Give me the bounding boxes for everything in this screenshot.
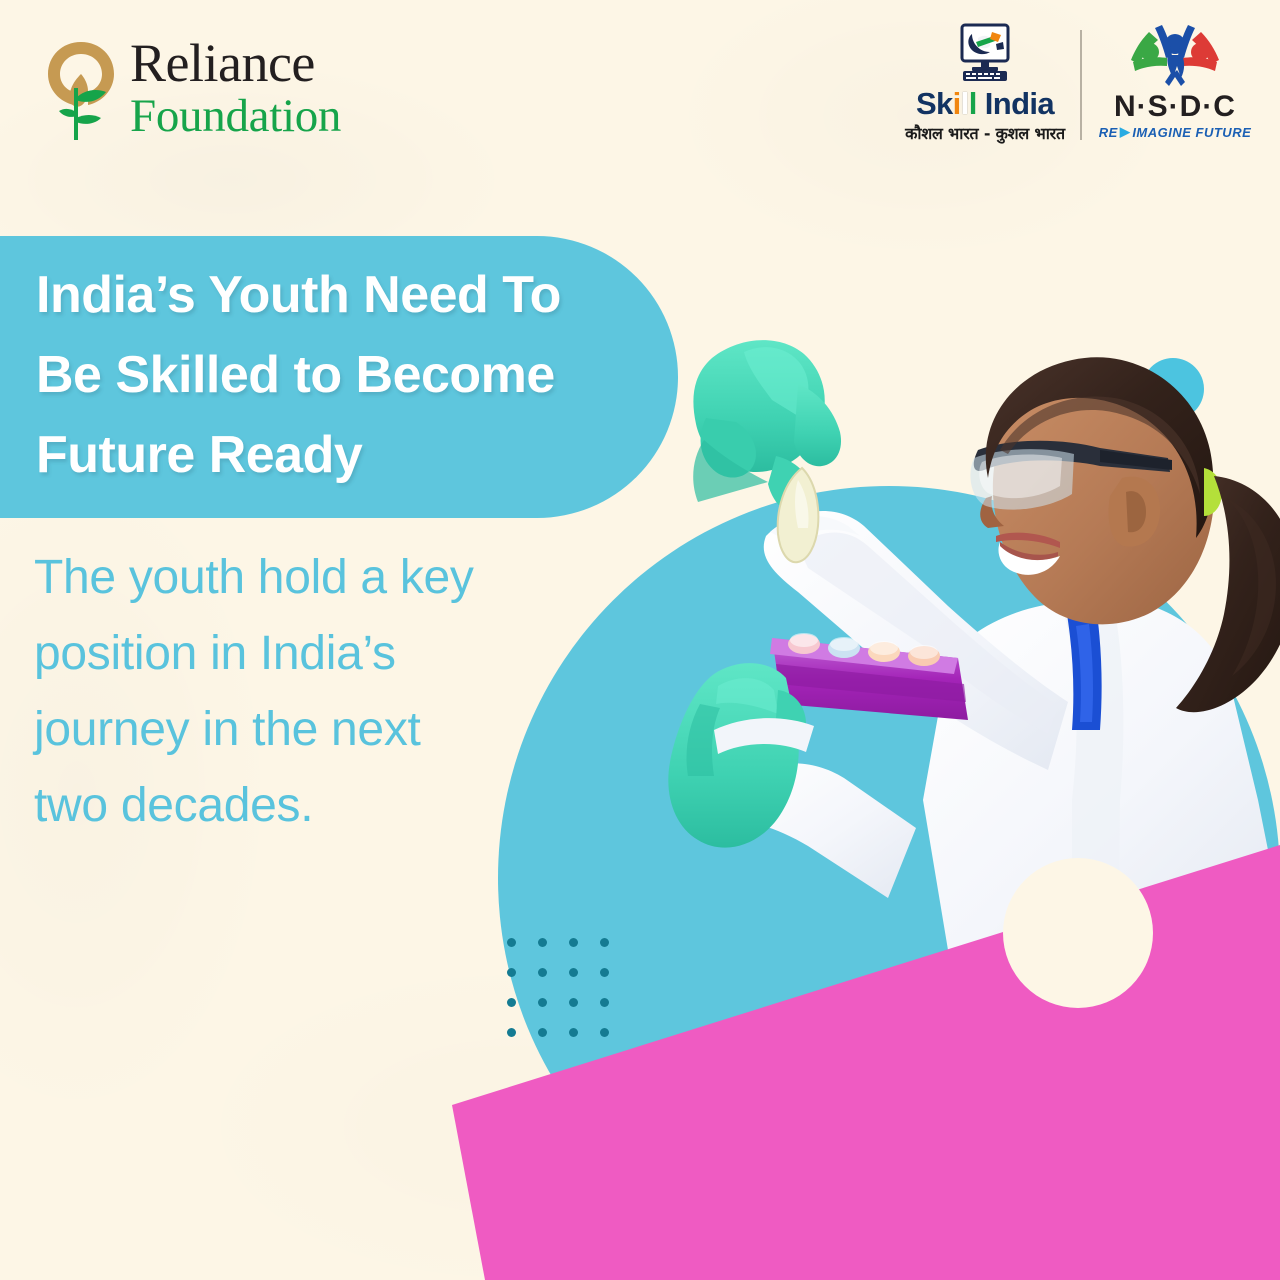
- dot-grid-pattern: [507, 938, 607, 1038]
- nsdc-logo: N·S·D·C RE ▶ IMAGINE FUTURE: [1100, 22, 1250, 140]
- subtitle-line-1: The youth hold a key: [34, 540, 614, 616]
- reliance-foundation-logo: Reliance Foundation: [44, 34, 354, 149]
- monitor-hand-tools-icon: [954, 22, 1016, 84]
- cream-circle-accent: [1003, 858, 1153, 1008]
- logo-divider: [1080, 30, 1082, 140]
- subtitle-line-4: two decades.: [34, 768, 614, 844]
- subtitle-text: The youth hold a key position in India’s…: [34, 540, 614, 844]
- scientist-photo: [648, 330, 1280, 950]
- headline-line-3: Future Ready: [36, 415, 696, 495]
- skill-india-logo: Skill India कौशल भारत - कुशल भारत: [900, 22, 1070, 144]
- skill-india-hindi-tagline: कौशल भारत - कुशल भारत: [905, 122, 1065, 144]
- foundation-word: Foundation: [130, 90, 341, 142]
- headline-line-2: Be Skilled to Become: [36, 335, 696, 415]
- poster-canvas: India’s Youth Need To Be Skilled to Beco…: [0, 0, 1280, 1280]
- skill-india-i-saffron: i: [953, 86, 961, 121]
- reliance-foundation-wordmark: Reliance Foundation: [130, 34, 341, 142]
- nsdc-tagline-re: RE: [1099, 125, 1118, 140]
- three-people-raised-arms-icon: [1119, 22, 1231, 90]
- headline-text: India’s Youth Need To Be Skilled to Beco…: [36, 255, 696, 495]
- nsdc-tagline: RE ▶ IMAGINE FUTURE: [1099, 124, 1252, 140]
- reliance-word: Reliance: [130, 34, 341, 92]
- reliance-flame-leaf-icon: [44, 40, 118, 142]
- skill-india-india: India: [977, 86, 1054, 121]
- skill-india-sk: Sk: [916, 86, 953, 121]
- subtitle-line-2: position in India’s: [34, 616, 614, 692]
- skill-india-wordmark: Skill India: [916, 87, 1054, 121]
- skill-india-l-white: l: [961, 86, 969, 121]
- subtitle-line-3: journey in the next: [34, 692, 614, 768]
- nsdc-tagline-imagine-future: IMAGINE FUTURE: [1132, 125, 1251, 140]
- nsdc-arrow-icon: ▶: [1120, 124, 1131, 140]
- partner-logos: Skill India कौशल भारत - कुशल भारत: [900, 22, 1250, 162]
- skill-india-l-green: l: [969, 86, 977, 121]
- headline-line-1: India’s Youth Need To: [36, 255, 696, 335]
- nsdc-wordmark: N·S·D·C: [1114, 91, 1236, 123]
